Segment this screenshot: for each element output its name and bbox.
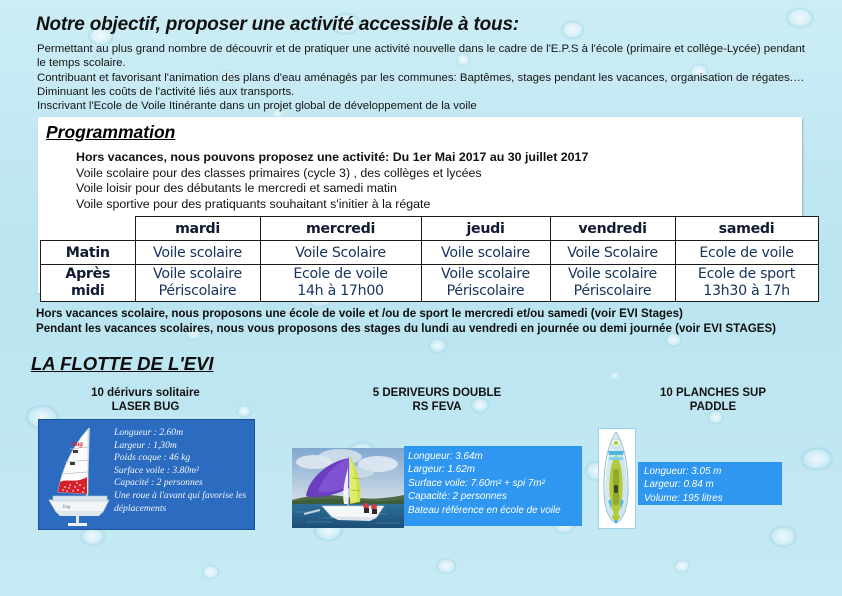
table-row: Après midi Voile scolaire Périscolaire E… xyxy=(41,265,819,302)
spec-line: Largeur: 1.62m xyxy=(408,463,582,476)
sup-paddle-board-illustration xyxy=(599,429,633,526)
spec-line: Volume: 195 litres xyxy=(644,492,782,505)
programmation-line-3: Voile loisir pour des débutants le mercr… xyxy=(76,181,588,197)
table-cell-matin-mercredi: Voile Scolaire xyxy=(260,241,421,265)
table-cell-matin-samedi: Ecole de voile xyxy=(675,241,818,265)
cell-line-1: Ecole de sport xyxy=(678,266,816,283)
spec-line: Capacité: 2 personnes xyxy=(408,490,582,503)
laser-bug-card: bug bug Longueur : 2.60m Largeur : 1,30m… xyxy=(38,419,255,530)
fleet-caption-laser-bug: 10 dérivurs solitaire LASER BUG xyxy=(38,386,253,414)
table-corner-cell xyxy=(41,217,136,241)
table-rowhead-matin: Matin xyxy=(41,241,136,265)
table-cell-apresmidi-mercredi: Ecole de voile 14h à 17h00 xyxy=(260,265,421,302)
programmation-title: Programmation xyxy=(46,122,175,143)
spec-line: Bateau référence en école de voile xyxy=(408,504,582,517)
table-header-mardi: mardi xyxy=(135,217,260,241)
spec-line: Longueur: 3.05 m xyxy=(644,465,782,478)
rowhead-line-1: Après xyxy=(43,266,133,283)
cell-line-1: Voile scolaire xyxy=(424,266,548,283)
table-row: Matin Voile scolaire Voile Scolaire Voil… xyxy=(41,241,819,265)
laser-bug-dinghy-illustration: bug bug xyxy=(43,422,115,527)
spec-line: Une roue à l'avant qui favorise les dépl… xyxy=(114,490,252,515)
spec-line: Surface voile : 3.80m² xyxy=(114,465,252,478)
svg-text:bug: bug xyxy=(72,440,83,448)
table-header-jeudi: jeudi xyxy=(421,217,550,241)
table-cell-apresmidi-jeudi: Voile scolaire Périscolaire xyxy=(421,265,550,302)
notes-line-2: Pendant les vacances scolaires, nous vou… xyxy=(36,321,826,336)
notes-line-1: Hors vacances scolaire, nous proposons u… xyxy=(36,306,826,321)
cell-line-2: 14h à 17h00 xyxy=(263,283,419,300)
laser-bug-specs: Longueur : 2.60m Largeur : 1,30m Poids c… xyxy=(114,427,252,515)
slide-page: Notre objectif, proposer une activité ac… xyxy=(0,0,842,596)
table-cell-apresmidi-mardi: Voile scolaire Périscolaire xyxy=(135,265,260,302)
rs-feva-sailing-illustration xyxy=(292,448,404,528)
fleet-caption-rs-feva: 5 DERIVEURS DOUBLE RS FEVA xyxy=(292,386,582,414)
page-title: Notre objectif, proposer une activité ac… xyxy=(36,14,519,36)
caption-line-2: RS FEVA xyxy=(292,400,582,414)
caption-line-1: 10 PLANCHES SUP xyxy=(598,386,828,400)
cell-line-1: Voile scolaire xyxy=(553,266,673,283)
rowhead-line-2: midi xyxy=(43,283,133,300)
spec-line: Largeur : 1,30m xyxy=(114,440,252,453)
programmation-line-2: Voile scolaire pour des classes primaire… xyxy=(76,166,588,182)
table-cell-matin-mardi: Voile scolaire xyxy=(135,241,260,265)
cell-line-1: Voile scolaire xyxy=(138,266,258,283)
intro-line-2: Contribuant et favorisant l'animation de… xyxy=(37,71,812,85)
notes-block: Hors vacances scolaire, nous proposons u… xyxy=(36,306,826,336)
table-cell-matin-jeudi: Voile scolaire xyxy=(421,241,550,265)
table-cell-apresmidi-samedi: Ecole de sport 13h30 à 17h xyxy=(675,265,818,302)
spec-line: Longueur : 2.60m xyxy=(114,427,252,440)
intro-line-3: Diminuant les coûts de l'activité liés a… xyxy=(37,85,812,99)
caption-line-1: 5 DERIVEURS DOUBLE xyxy=(292,386,582,400)
fleet-heading: LA FLOTTE DE L'EVI xyxy=(31,353,214,375)
rs-feva-photo xyxy=(292,448,404,528)
programmation-line-1: Hors vacances, nous pouvons proposez une… xyxy=(76,150,588,166)
table-header-vendredi: vendredi xyxy=(550,217,675,241)
sup-paddle-board-photo xyxy=(598,428,636,529)
caption-line-1: 10 dérivurs solitaire xyxy=(38,386,253,400)
cell-line-2: Périscolaire xyxy=(138,283,258,300)
programmation-list: Hors vacances, nous pouvons proposez une… xyxy=(76,150,588,212)
spec-line: Capacité : 2 personnes xyxy=(114,477,252,490)
cell-line-2: Périscolaire xyxy=(553,283,673,300)
caption-line-2: PADDLE xyxy=(598,400,828,414)
spec-line: Largeur: 0.84 m xyxy=(644,478,782,491)
intro-paragraph: Permettant au plus grand nombre de décou… xyxy=(37,42,812,113)
fleet-caption-sup-paddle: 10 PLANCHES SUP PADDLE xyxy=(598,386,828,414)
table-header-row: mardi mercredi jeudi vendredi samedi xyxy=(41,217,819,241)
intro-line-1: Permettant au plus grand nombre de décou… xyxy=(37,42,812,71)
table-cell-matin-vendredi: Voile Scolaire xyxy=(550,241,675,265)
spec-line: Surface voile: 7.60m² + spi 7m² xyxy=(408,477,582,490)
programmation-line-4: Voile sportive pour des pratiquants souh… xyxy=(76,197,588,213)
table-header-samedi: samedi xyxy=(675,217,818,241)
table-rowhead-apres-midi: Après midi xyxy=(41,265,136,302)
table-header-mercredi: mercredi xyxy=(260,217,421,241)
spec-line: Longueur: 3.64m xyxy=(408,450,582,463)
rs-feva-specs: Longueur: 3.64m Largeur: 1.62m Surface v… xyxy=(404,446,582,526)
intro-line-4: Inscrivant l'Ecole de Voile Itinérante d… xyxy=(37,99,812,113)
cell-line-2: Périscolaire xyxy=(424,283,548,300)
cell-line-2: 13h30 à 17h xyxy=(678,283,816,300)
sup-paddle-specs: Longueur: 3.05 m Largeur: 0.84 m Volume:… xyxy=(638,462,782,505)
svg-text:bug: bug xyxy=(63,505,71,510)
cell-line-1: Ecole de voile xyxy=(263,266,419,283)
spec-line: Poids coque : 46 kg xyxy=(114,452,252,465)
programmation-panel: Programmation Hors vacances, nous pouvon… xyxy=(38,117,802,293)
caption-line-2: LASER BUG xyxy=(38,400,253,414)
schedule-table: mardi mercredi jeudi vendredi samedi Mat… xyxy=(40,216,819,302)
table-cell-apresmidi-vendredi: Voile scolaire Périscolaire xyxy=(550,265,675,302)
